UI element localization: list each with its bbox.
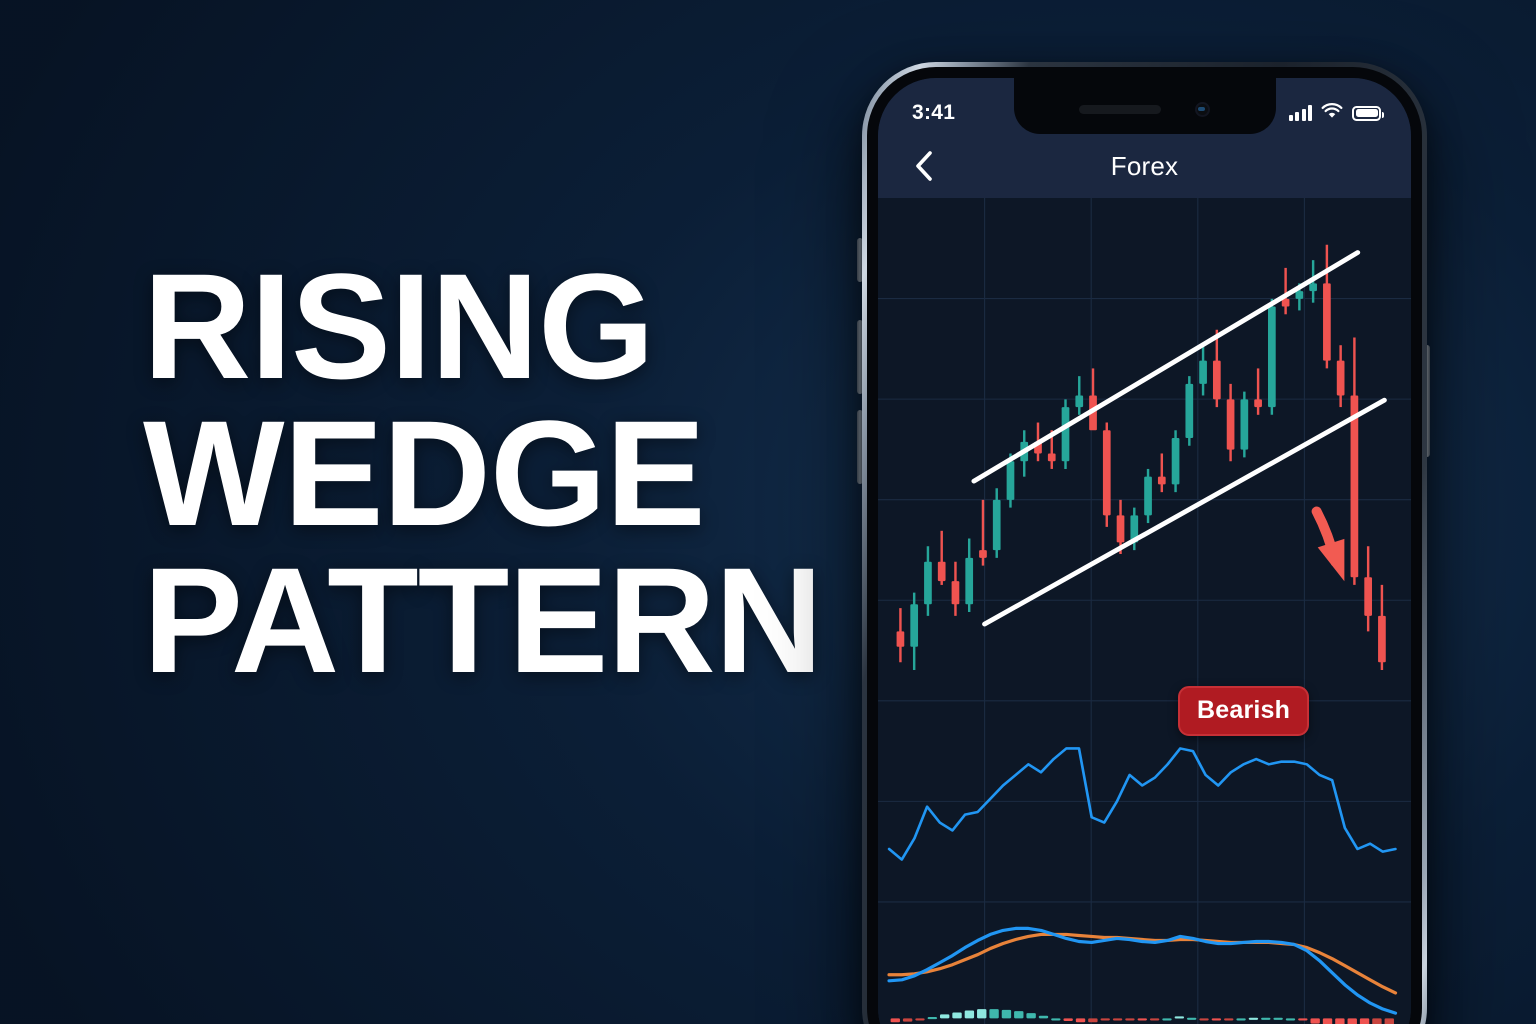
down-arrow-icon — [1317, 511, 1345, 581]
candlestick-series — [897, 245, 1386, 670]
chevron-left-icon[interactable] — [906, 149, 940, 183]
app-title: Forex — [1111, 151, 1178, 182]
trendlines — [974, 253, 1384, 625]
page-title: RISING WEDGE PATTERN — [143, 253, 843, 694]
speaker-grille-icon — [1079, 105, 1161, 114]
app-navbar: Forex — [878, 134, 1411, 198]
status-icons — [1289, 103, 1382, 124]
rsi-panel — [889, 748, 1395, 859]
battery-icon — [1352, 106, 1381, 121]
phone-screen: 3:41 Forex — [878, 78, 1411, 1024]
wifi-icon — [1321, 103, 1343, 124]
headline-line-2: WEDGE — [143, 400, 843, 547]
headline-line-1: RISING — [143, 253, 843, 400]
phone-mockup: 3:41 Forex — [862, 62, 1427, 1024]
phone-notch — [1014, 78, 1276, 134]
front-camera-icon — [1195, 102, 1210, 117]
cellular-bars-icon — [1289, 105, 1313, 121]
chart-canvas — [878, 198, 1411, 1024]
status-badge[interactable]: Bearish — [1178, 686, 1309, 736]
status-time: 3:41 — [912, 101, 955, 125]
headline-line-3: PATTERN — [143, 547, 843, 694]
phone-bezel: 3:41 Forex — [867, 67, 1422, 1024]
macd-panel — [889, 928, 1395, 1024]
trading-chart[interactable]: Bearish — [878, 198, 1411, 1024]
chart-gridlines — [878, 198, 1411, 1024]
